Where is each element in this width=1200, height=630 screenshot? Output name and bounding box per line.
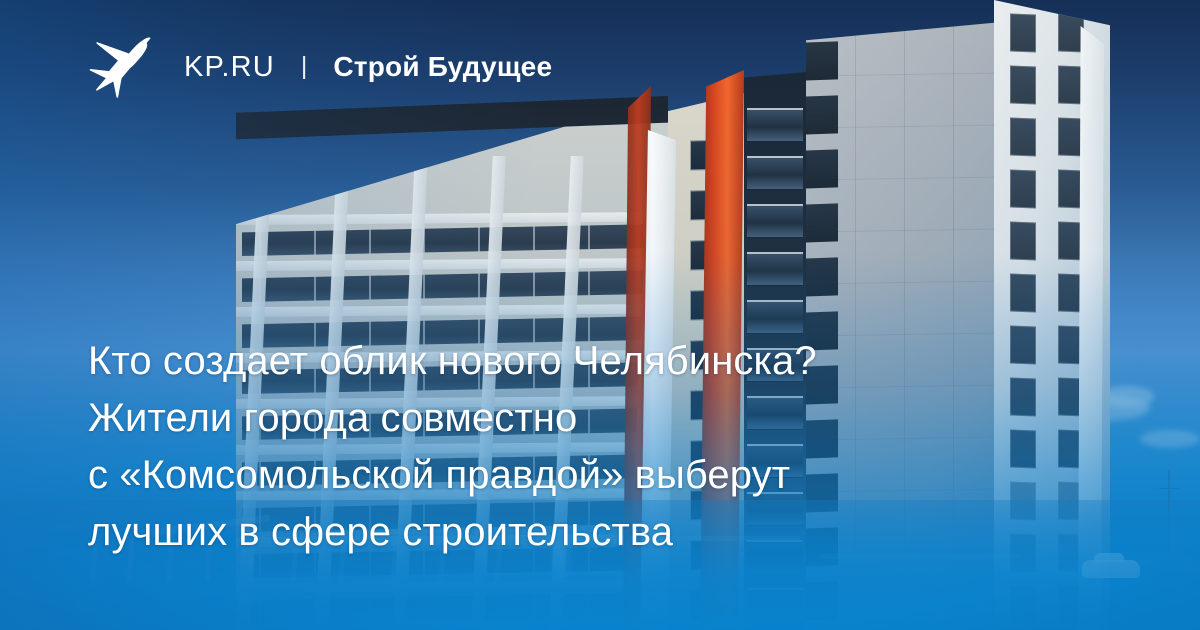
brand-name: KP.RU xyxy=(184,51,275,84)
headline-line-2: Жители города совместно xyxy=(88,390,1098,447)
header-separator: | xyxy=(301,52,308,81)
headline-block: Кто создает облик нового Челябинска? Жит… xyxy=(88,333,1098,561)
project-tagline: Строй Будущее xyxy=(333,51,552,83)
promo-card: KP.RU | Строй Будущее Кто создает облик … xyxy=(0,0,1200,630)
headline-line-3: с «Комсомольской правдой» выберут xyxy=(88,447,1098,504)
headline-line-1: Кто создает облик нового Челябинска? xyxy=(88,333,1098,390)
swallow-bird-logo-icon[interactable] xyxy=(88,36,152,98)
headline-line-4: лучших в сфере строительства xyxy=(88,504,1098,561)
brand-header: KP.RU | Строй Будущее xyxy=(88,36,552,98)
